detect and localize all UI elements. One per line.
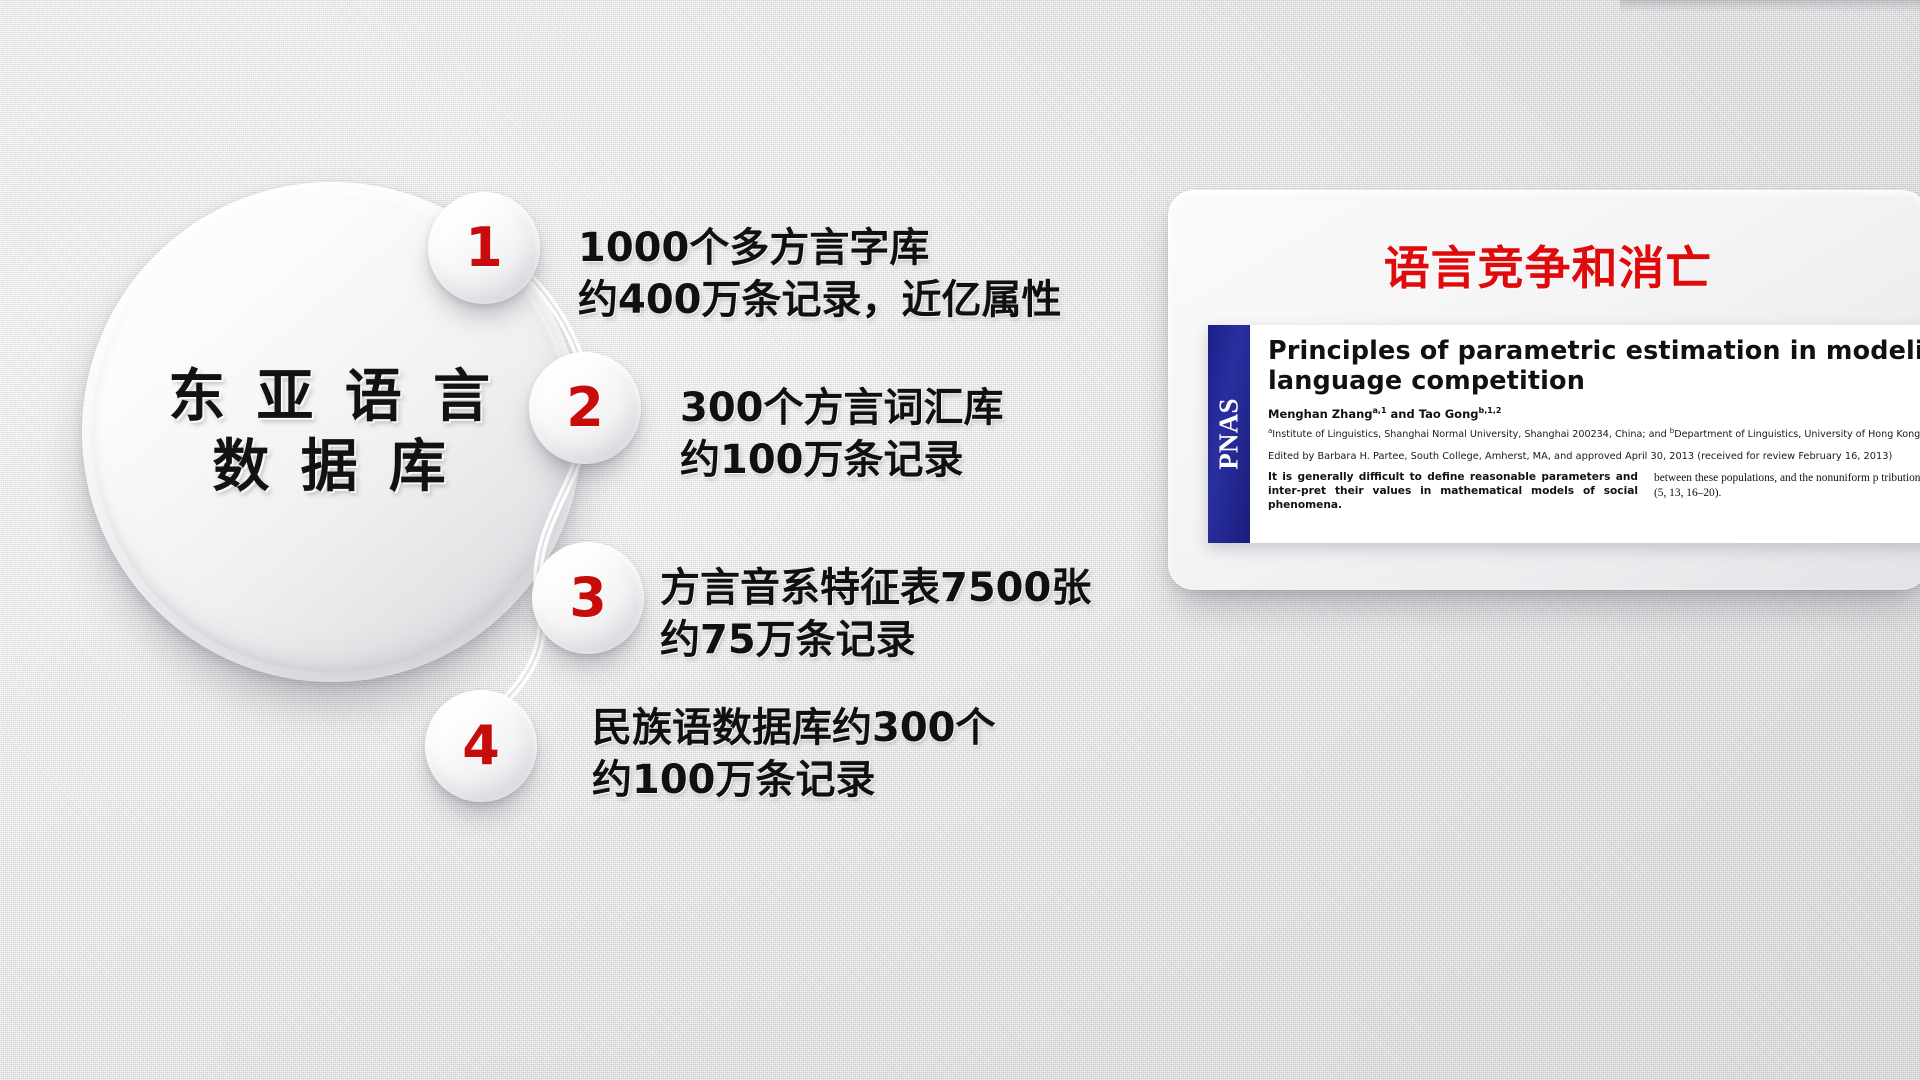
- paper-abstract-left: It is generally difficult to define reas…: [1268, 471, 1638, 513]
- slide-canvas: 东 亚 语 言 数 据 库 1 1000个多方言字库 约400万条记录，近亿属性…: [0, 0, 1920, 1080]
- bubble-2[interactable]: 2: [529, 352, 641, 464]
- paper-screenshot: PNAS Principles of parametric estimation…: [1208, 325, 1920, 543]
- paper-abstract-columns: It is generally difficult to define reas…: [1268, 471, 1920, 513]
- paper-panel: 语言竞争和消亡 PNAS Principles of parametric es…: [1168, 190, 1920, 590]
- paper-content: Principles of parametric estimation in m…: [1250, 325, 1920, 543]
- paper-panel-heading: 语言竞争和消亡: [1168, 232, 1920, 298]
- bubble-1[interactable]: 1: [428, 192, 540, 304]
- bubble-4[interactable]: 4: [425, 690, 537, 802]
- paper-abstract-right: between these populations, and the nonun…: [1654, 471, 1920, 513]
- top-edge-artifact: [1620, 0, 1920, 12]
- pnas-logo-strip: PNAS: [1208, 325, 1250, 543]
- bubble-3[interactable]: 3: [532, 542, 644, 654]
- bubble-4-number: 4: [462, 719, 500, 773]
- paper-authors: Menghan Zhanga,1 and Tao Gongb,1,2: [1268, 406, 1920, 421]
- item-1-text: 1000个多方言字库 约400万条记录，近亿属性: [578, 222, 1062, 326]
- paper-editor-line: Edited by Barbara H. Partee, South Colle…: [1268, 451, 1920, 462]
- item-2-text: 300个方言词汇库 约100万条记录: [680, 382, 1004, 486]
- paper-affiliation: aInstitute of Linguistics, Shanghai Norm…: [1268, 427, 1920, 442]
- item-3-text: 方言音系特征表7500张 约75万条记录: [660, 562, 1091, 666]
- item-4-text: 民族语数据库约300个 约100万条记录: [592, 702, 996, 806]
- pnas-wordmark: PNAS: [1214, 398, 1245, 470]
- main-circle-label: 东 亚 语 言 数 据 库: [82, 362, 582, 501]
- bubble-2-number: 2: [566, 381, 604, 435]
- bubble-1-number: 1: [465, 221, 503, 275]
- bubble-3-number: 3: [569, 571, 607, 625]
- paper-article-title: Principles of parametric estimation in m…: [1268, 337, 1920, 397]
